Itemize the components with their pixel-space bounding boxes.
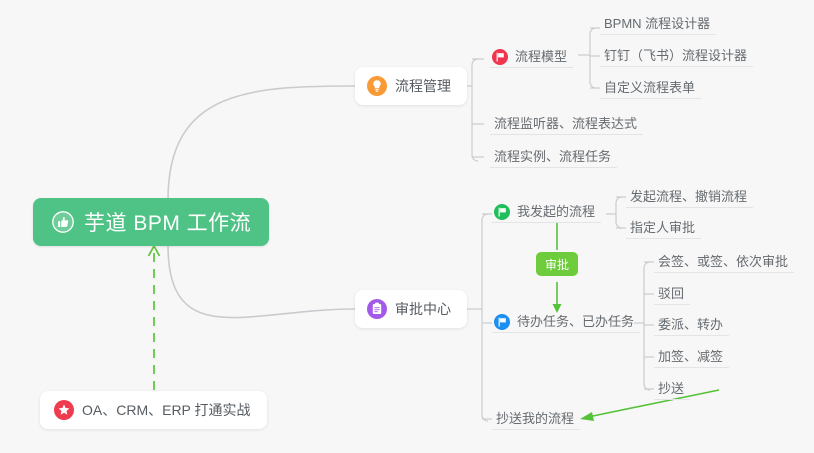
link-ac-bracket bbox=[482, 214, 488, 421]
flag-icon-blue bbox=[494, 314, 510, 330]
flag-icon-green bbox=[494, 204, 510, 220]
node-my-initiated-process[interactable]: 我发起的流程 bbox=[492, 197, 601, 223]
mindmap-canvas: 芋道 BPM 工作流 流程管理 流程模型 BPMN 流程设计器 钉钉（飞书）流程 bbox=[0, 0, 814, 453]
link-mine-bracket bbox=[616, 197, 622, 228]
node-cc-to-me-process[interactable]: 抄送我的流程 bbox=[492, 404, 580, 430]
node-countersign-orsign-sequential[interactable]: 会签、或签、依次审批 bbox=[654, 247, 794, 273]
branch-process-management[interactable]: 流程管理 bbox=[355, 67, 467, 105]
approve-badge-label: 审批 bbox=[545, 256, 569, 273]
node-add-remove-sign[interactable]: 加签、减签 bbox=[654, 342, 729, 368]
star-icon bbox=[54, 400, 74, 420]
node-process-listener-expression-label: 流程监听器、流程表达式 bbox=[494, 113, 637, 132]
node-reject[interactable]: 驳回 bbox=[654, 279, 690, 305]
node-my-initiated-process-label: 我发起的流程 bbox=[517, 201, 595, 220]
thumbs-up-icon bbox=[51, 210, 75, 234]
node-carbon-copy-label: 抄送 bbox=[658, 378, 684, 397]
node-delegate-transfer[interactable]: 委派、转办 bbox=[654, 310, 729, 336]
clipboard-icon bbox=[367, 299, 387, 319]
node-dingtalk-feishu-designer[interactable]: 钉钉（飞书）流程设计器 bbox=[600, 41, 753, 67]
node-process-model-label: 流程模型 bbox=[515, 46, 567, 65]
node-add-remove-sign-label: 加签、减签 bbox=[658, 346, 723, 365]
branch-process-management-label: 流程管理 bbox=[395, 76, 451, 96]
root-node[interactable]: 芋道 BPM 工作流 bbox=[33, 198, 269, 246]
node-assignee-approval[interactable]: 指定人审批 bbox=[626, 213, 701, 239]
arrow-head-up bbox=[149, 246, 160, 256]
node-process-instance-task[interactable]: 流程实例、流程任务 bbox=[490, 142, 617, 168]
node-bpmn-designer-label: BPMN 流程设计器 bbox=[604, 13, 710, 32]
integration-note-label: OA、CRM、ERP 打通实战 bbox=[82, 400, 251, 420]
node-process-listener-expression[interactable]: 流程监听器、流程表达式 bbox=[490, 109, 643, 135]
link-pm-bracket bbox=[472, 59, 478, 161]
node-carbon-copy[interactable]: 抄送 bbox=[654, 374, 690, 400]
node-countersign-orsign-sequential-label: 会签、或签、依次审批 bbox=[658, 251, 788, 270]
link-root-to-approval-center bbox=[168, 245, 355, 318]
approve-badge[interactable]: 审批 bbox=[536, 252, 578, 276]
node-bpmn-designer[interactable]: BPMN 流程设计器 bbox=[600, 9, 716, 35]
node-start-cancel-process-label: 发起流程、撤销流程 bbox=[630, 186, 747, 205]
lightbulb-icon bbox=[367, 76, 387, 96]
link-model-bracket bbox=[590, 28, 596, 88]
node-start-cancel-process[interactable]: 发起流程、撤销流程 bbox=[626, 182, 753, 208]
link-root-to-process-management bbox=[168, 86, 355, 200]
node-process-instance-task-label: 流程实例、流程任务 bbox=[494, 146, 611, 165]
branch-approval-center-label: 审批中心 bbox=[395, 299, 451, 319]
branch-approval-center[interactable]: 审批中心 bbox=[355, 290, 467, 328]
node-assignee-approval-label: 指定人审批 bbox=[630, 217, 695, 236]
root-label: 芋道 BPM 工作流 bbox=[84, 207, 251, 237]
node-custom-process-form-label: 自定义流程表单 bbox=[604, 77, 695, 96]
node-custom-process-form[interactable]: 自定义流程表单 bbox=[600, 73, 701, 99]
flag-icon-red bbox=[492, 49, 508, 65]
node-dingtalk-feishu-designer-label: 钉钉（飞书）流程设计器 bbox=[604, 45, 747, 64]
link-todo-bracket bbox=[644, 262, 650, 390]
node-todo-done-tasks[interactable]: 待办任务、已办任务 bbox=[492, 307, 640, 333]
node-todo-done-tasks-label: 待办任务、已办任务 bbox=[517, 311, 634, 330]
node-cc-to-me-process-label: 抄送我的流程 bbox=[496, 408, 574, 427]
integration-note[interactable]: OA、CRM、ERP 打通实战 bbox=[40, 391, 267, 429]
node-process-model[interactable]: 流程模型 bbox=[490, 42, 573, 68]
arrow-head-cc bbox=[580, 412, 594, 421]
node-delegate-transfer-label: 委派、转办 bbox=[658, 314, 723, 333]
node-reject-label: 驳回 bbox=[658, 283, 684, 302]
